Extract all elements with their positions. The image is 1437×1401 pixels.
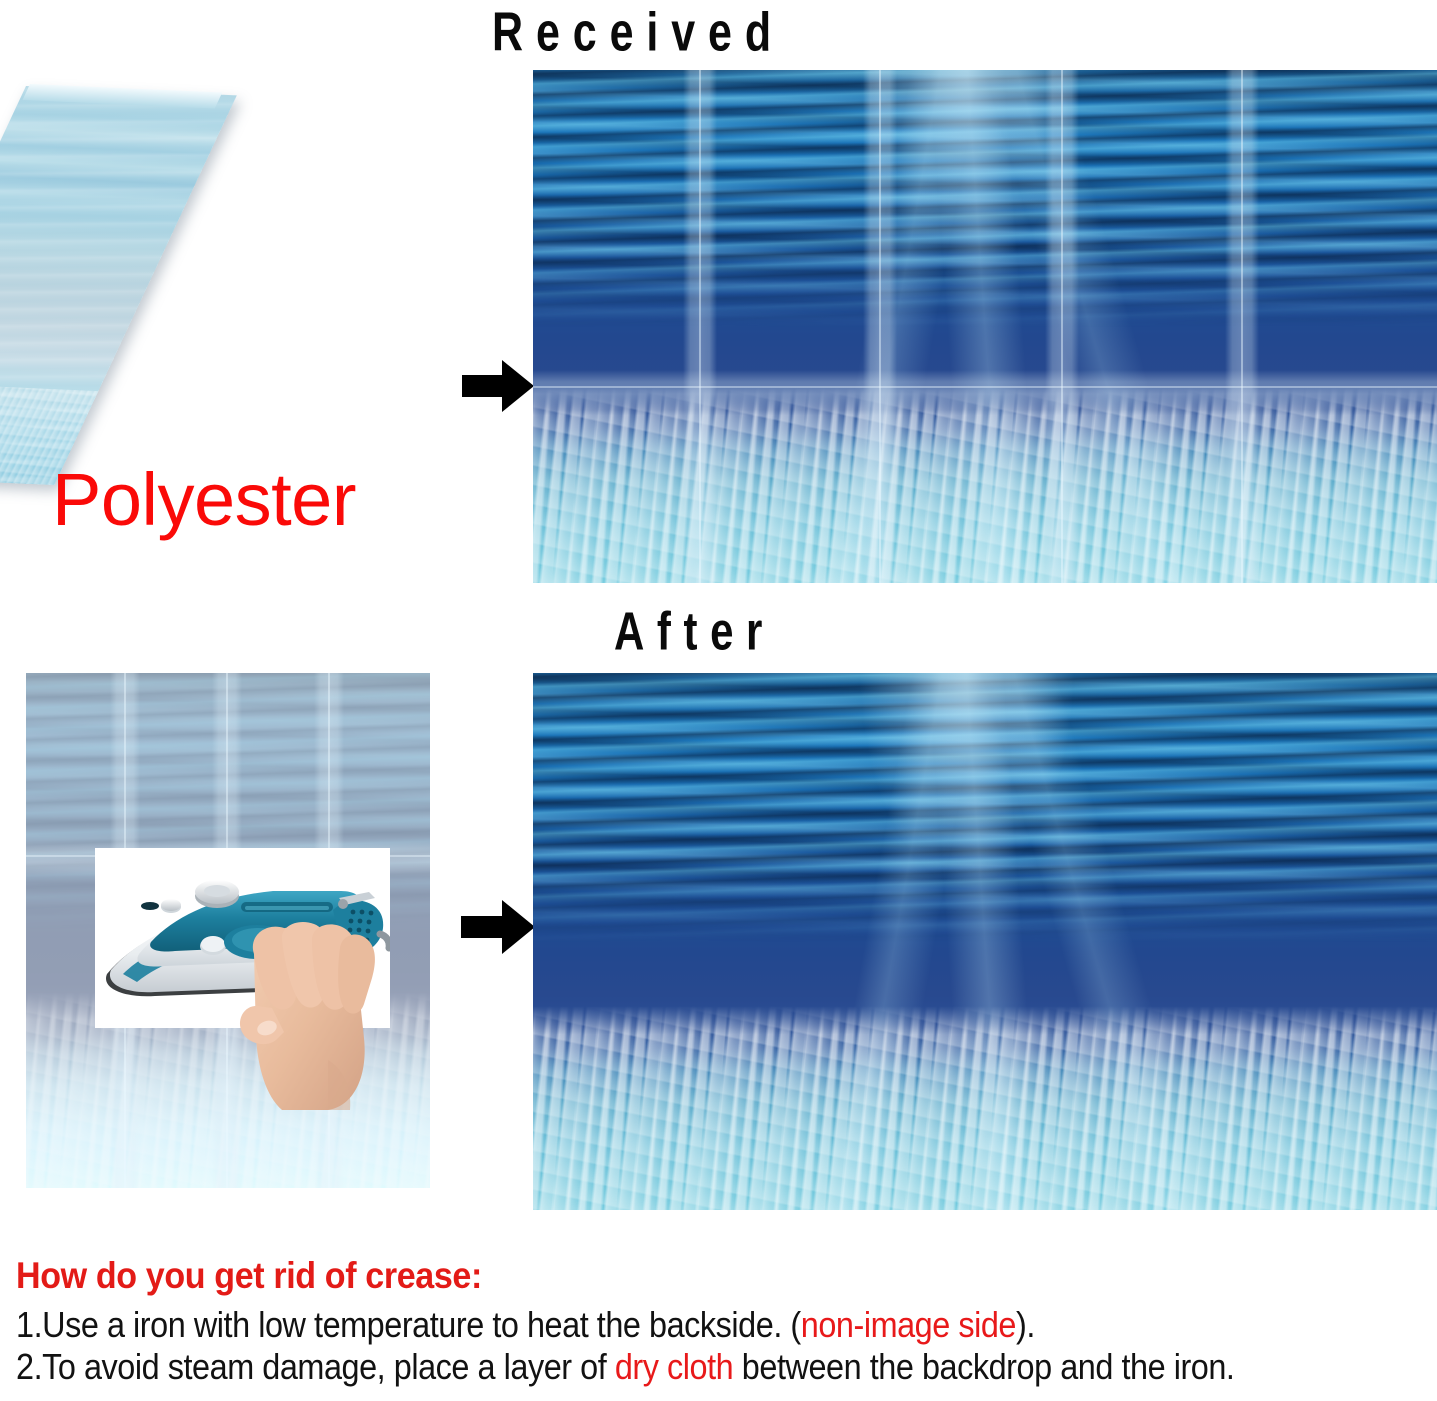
instruction-1-highlight: non-image side — [801, 1304, 1016, 1345]
instruction-line-1: 1.Use a iron with low temperature to hea… — [16, 1304, 1290, 1346]
polyester-material-label: Polyester — [52, 457, 356, 542]
sun-glow — [858, 673, 1075, 888]
steam-iron-photo — [95, 848, 390, 1028]
sand-caustics — [533, 388, 1437, 583]
instructions-heading: How do you get rid of crease: — [16, 1256, 1318, 1296]
instruction-2-highlight: dry cloth — [615, 1346, 733, 1387]
received-backdrop-image — [533, 70, 1437, 583]
instruction-line-2: 2.To avoid steam damage, place a layer o… — [16, 1346, 1290, 1388]
instruction-2-text-b: between the backdrop and the iron. — [733, 1346, 1234, 1387]
received-heading: Received — [492, 2, 784, 65]
sand-caustics — [533, 1006, 1437, 1210]
instruction-1-text-b: ). — [1016, 1304, 1035, 1345]
polyester-fabric-photo — [8, 78, 428, 498]
folded-fabric-sheet — [0, 86, 237, 485]
instruction-1-text-a: 1.Use a iron with low temperature to hea… — [16, 1304, 801, 1345]
care-instructions: How do you get rid of crease: 1.Use a ir… — [16, 1256, 1431, 1389]
hand-icon — [232, 910, 400, 1110]
sun-glow — [858, 70, 1075, 275]
instruction-2-text-a: 2.To avoid steam damage, place a layer o… — [16, 1346, 615, 1387]
after-backdrop-image — [533, 673, 1437, 1210]
right-arrow-icon — [462, 360, 534, 412]
after-heading: After — [614, 601, 775, 662]
right-arrow-icon — [461, 900, 535, 954]
